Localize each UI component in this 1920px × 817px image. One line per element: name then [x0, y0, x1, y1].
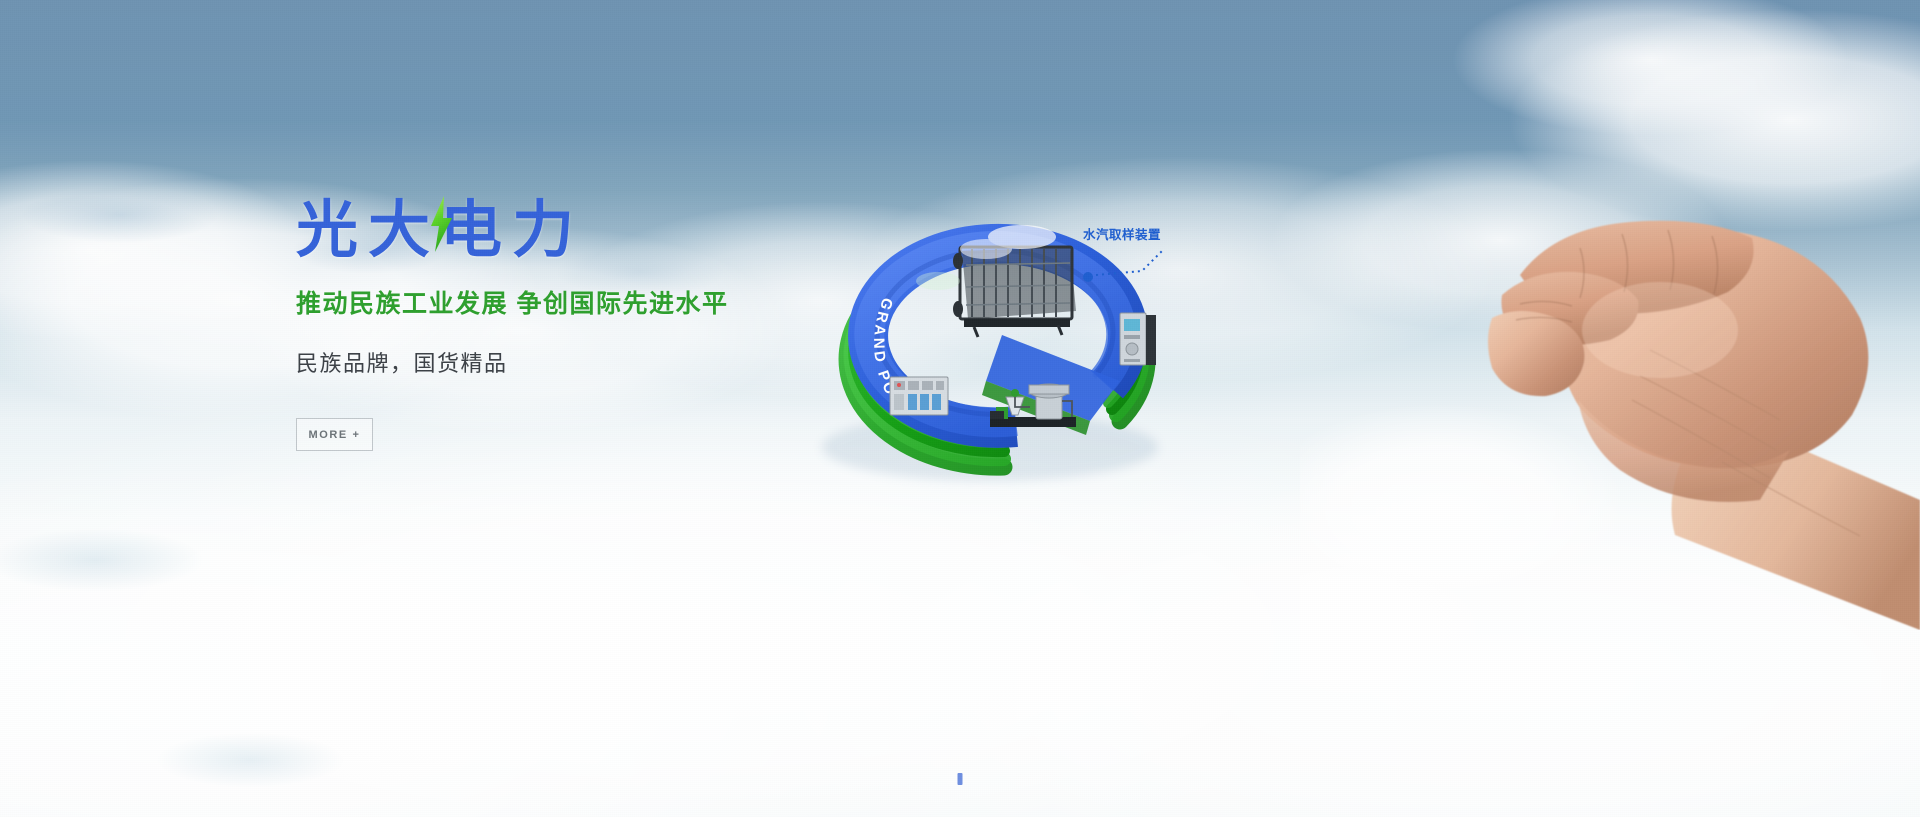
callout-dot [1083, 272, 1093, 282]
slider-indicators[interactable] [958, 773, 963, 785]
analyzer-cabinet-icon [1120, 313, 1156, 365]
headline-text: 光大电力 [296, 196, 584, 265]
callout-label: 水汽取样装置 [1083, 224, 1161, 243]
banner-subline: 民族品牌，国货精品 [296, 346, 1056, 378]
banner-tagline: 推动民族工业发展 争创国际先进水平 [296, 284, 1056, 320]
hero-banner: GRAND POWER [0, 0, 1920, 817]
slider-dot-1[interactable] [958, 773, 963, 785]
banner-copy: 光大电力 推动民族工业发展 争创国际先进水平 民族品牌，国货精品 MORE + [296, 200, 1056, 451]
more-button[interactable]: MORE + [296, 418, 373, 451]
hand-reaching-icon [1460, 200, 1920, 630]
page-title: 光大电力 [296, 200, 1056, 262]
